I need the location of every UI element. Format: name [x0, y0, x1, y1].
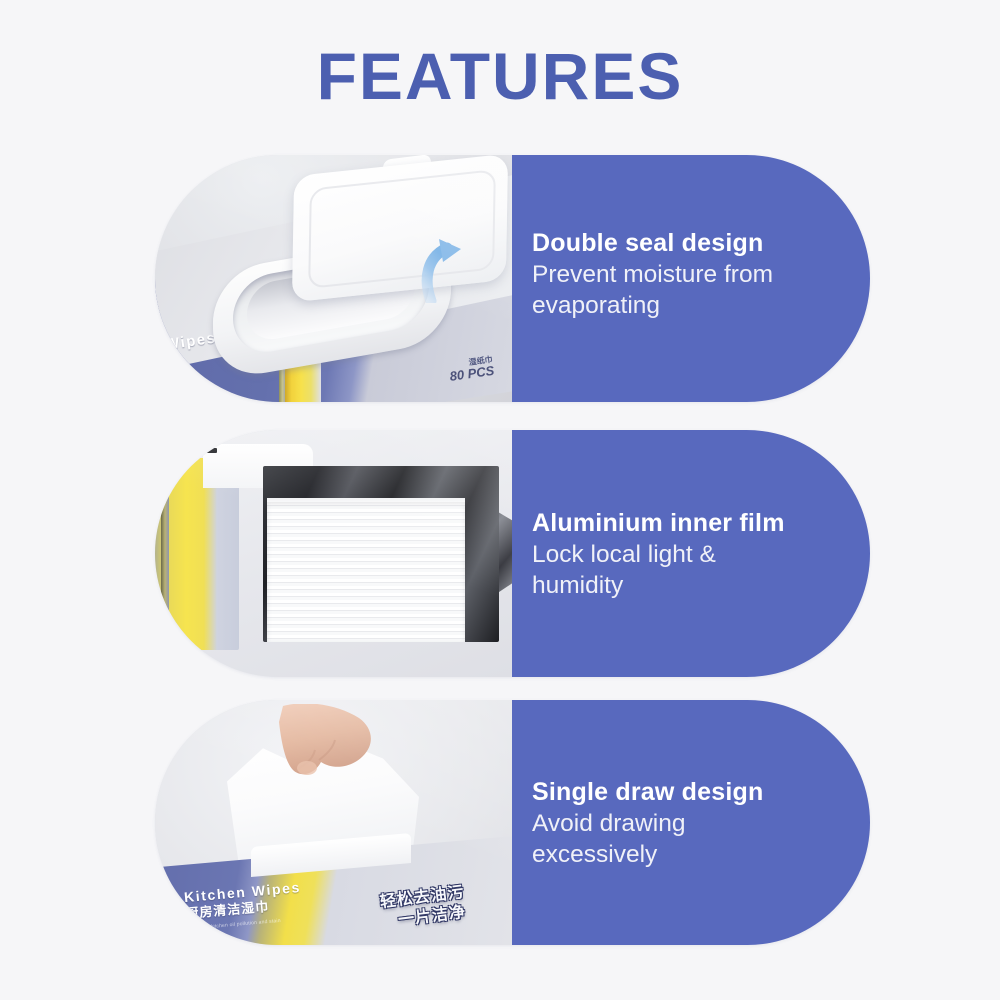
feature-photo-aluminium-film	[155, 430, 512, 677]
curved-arrow-icon	[417, 237, 475, 303]
feature-text-panel: Aluminium inner film Lock local light & …	[512, 430, 870, 677]
feature-block-double-seal: Wipes 湿纸巾 80 PCS	[155, 155, 870, 402]
feature-description-line-2: evaporating	[532, 290, 852, 321]
feature-description-line-2: excessively	[532, 839, 852, 870]
page-title: FEATURES	[0, 38, 1000, 114]
feature-heading: Double seal design	[532, 227, 852, 259]
infographic-page: FEATURES Wipes 湿纸巾 80 PCS	[0, 0, 1000, 1000]
feature-text-panel: Double seal design Prevent moisture from…	[512, 155, 870, 402]
pack-black-bar	[161, 448, 217, 453]
wipes-stack	[267, 502, 465, 642]
feature-photo-open-lid-pack: Wipes 湿纸巾 80 PCS	[155, 155, 512, 402]
pack-side-stripe	[161, 458, 169, 650]
feature-heading: Aluminium inner film	[532, 507, 852, 539]
feature-description-line-1: Lock local light &	[532, 539, 852, 570]
feature-description-line-1: Avoid drawing	[532, 808, 852, 839]
feature-photo-hand-pulling-wipe: Kitchen Wipes 厨房清洁湿巾 Removes kitchen oil…	[155, 700, 512, 945]
feature-description-line-2: humidity	[532, 570, 852, 601]
feature-text-group: Single draw design Avoid drawing excessi…	[532, 776, 852, 870]
feature-block-aluminium-film: Aluminium inner film Lock local light & …	[155, 430, 870, 677]
hand-icon	[275, 704, 397, 804]
feature-text-group: Double seal design Prevent moisture from…	[532, 227, 852, 321]
feature-block-single-draw: Kitchen Wipes 厨房清洁湿巾 Removes kitchen oil…	[155, 700, 870, 945]
feature-description-line-1: Prevent moisture from	[532, 259, 852, 290]
feature-text-group: Aluminium inner film Lock local light & …	[532, 507, 852, 601]
feature-text-panel: Single draw design Avoid drawing excessi…	[512, 700, 870, 945]
feature-heading: Single draw design	[532, 776, 852, 808]
